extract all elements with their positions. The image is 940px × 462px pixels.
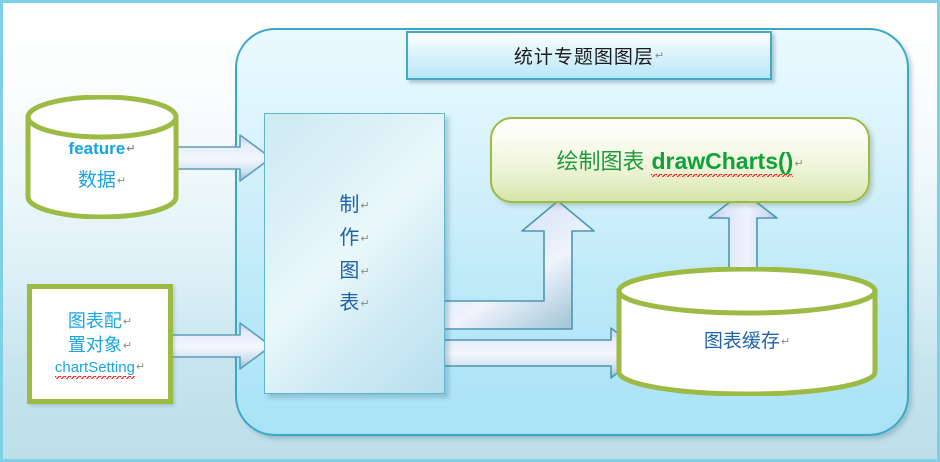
draw-charts-label: 绘制图表 drawCharts()↵ [556,144,803,176]
chart-setting-text-3: chartSetting [55,359,135,379]
pilcrow-feature-2: ↵ [117,174,126,187]
process-text-4: 表 [339,290,359,314]
chart-cache-text: 图表缓存 [704,330,780,352]
pilcrow-p3: ↵ [360,265,369,278]
diagram-canvas: 统计专题图图层↵ feature↵ 数据↵ 图表配↵ 置对象↵ chartSet… [0,0,940,462]
feature-store-label-line2: 数据↵ [25,165,179,192]
process-text-2: 作 [339,225,359,249]
pilcrow-title: ↵ [655,49,664,62]
draw-charts-text-cn: 绘制图表 [556,150,644,175]
pilcrow-cs-1: ↵ [123,315,132,328]
feature-store-text-2: 数据 [78,169,116,191]
chart-setting-line2: 置对象↵ [68,334,132,358]
pilcrow-cache: ↵ [781,335,790,348]
layer-title-box: 统计专题图图层↵ [406,31,772,80]
chart-setting-text-2: 置对象 [68,335,122,356]
process-char-3: 图↵ [339,254,369,287]
chart-setting-line3: chartSetting↵ [55,358,145,378]
layer-title-text: 统计专题图图层 [514,42,654,69]
node-feature-data-store: feature↵ 数据↵ [25,95,179,219]
draw-charts-text-code: drawCharts() [651,148,793,177]
node-chart-setting-object: 图表配↵ 置对象↵ chartSetting↵ [27,284,173,404]
chart-setting-text-1: 图表配 [68,311,122,332]
process-text-1: 制 [339,192,359,216]
feature-store-label-line1: feature↵ [25,139,179,159]
process-char-2: 作↵ [339,221,369,254]
pilcrow-feature-1: ↵ [126,142,135,155]
process-char-4: 表↵ [339,286,369,319]
pilcrow-p4: ↵ [360,297,369,310]
feature-store-text-1: feature [69,139,126,158]
node-make-chart-process: 制↵ 作↵ 图↵ 表↵ [264,113,445,394]
process-text-3: 图 [339,258,359,282]
pilcrow-draw: ↵ [794,157,803,170]
process-char-1: 制↵ [339,188,369,221]
node-draw-charts-method: 绘制图表 drawCharts()↵ [490,117,870,203]
pilcrow-cs-2: ↵ [123,339,132,352]
chart-setting-line1: 图表配↵ [68,310,132,334]
pilcrow-cs-3: ↵ [136,360,145,373]
pilcrow-p1: ↵ [360,199,369,212]
pilcrow-p2: ↵ [360,232,369,245]
chart-cache-label: 图表缓存↵ [616,326,878,353]
node-chart-cache-store: 图表缓存↵ [616,267,878,396]
